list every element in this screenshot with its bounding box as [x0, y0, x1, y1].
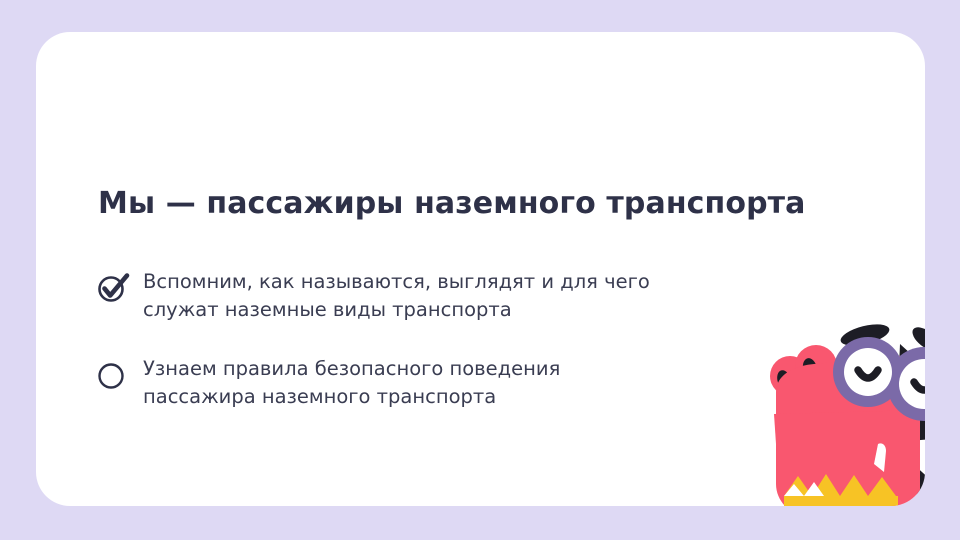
circle-icon[interactable] [96, 357, 130, 391]
dinosaur-mascot [748, 314, 925, 506]
list-item[interactable]: Вспомним, как называются, выглядят и для… [96, 268, 650, 324]
list-item-label: Вспомним, как называются, выглядят и для… [143, 268, 650, 324]
list-item-label: Узнаем правила безопасного поведения пас… [143, 355, 560, 411]
page-title: Мы — пассажиры наземного транспорта [98, 186, 805, 221]
content-card: Мы — пассажиры наземного транспорта Вспо… [36, 32, 925, 506]
check-circle-icon[interactable] [96, 270, 130, 304]
slide-canvas: Мы — пассажиры наземного транспорта Вспо… [0, 0, 960, 540]
list-item[interactable]: Узнаем правила безопасного поведения пас… [96, 355, 560, 411]
